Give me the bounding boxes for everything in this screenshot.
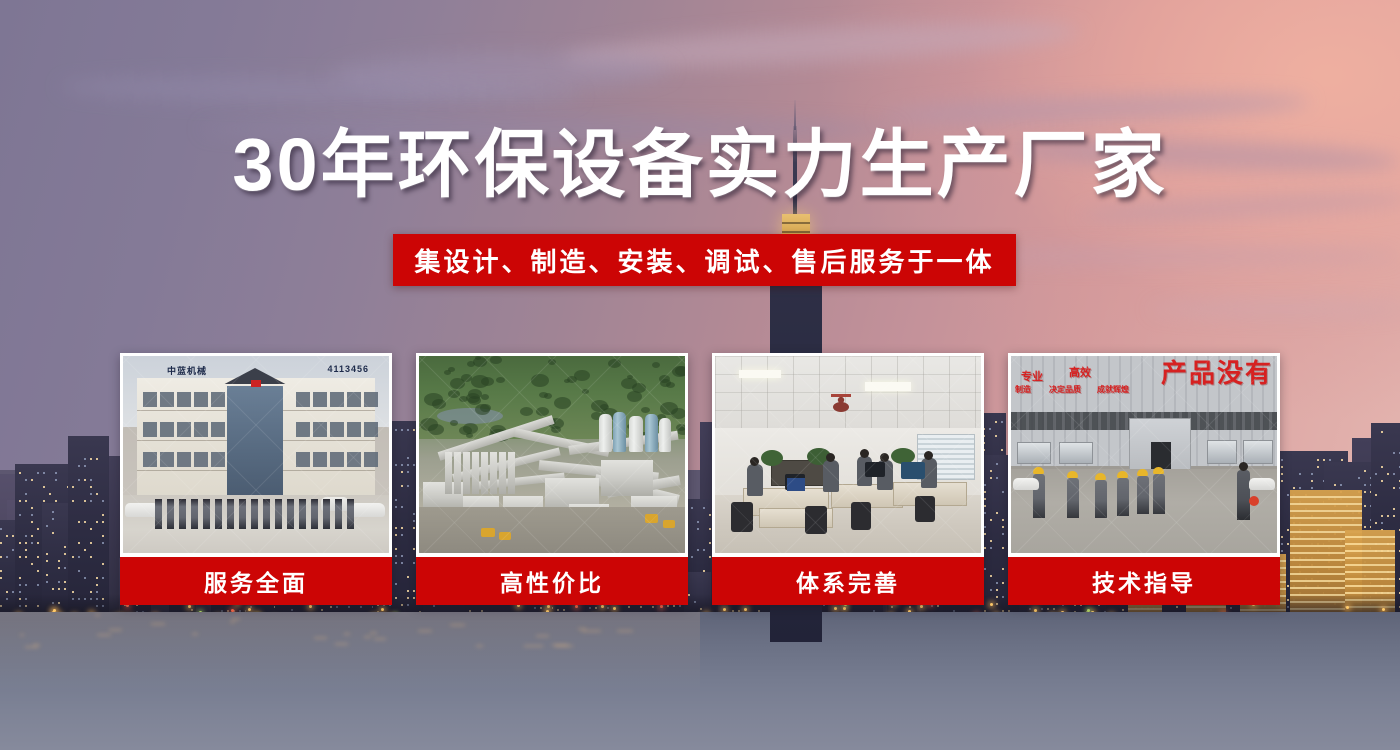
- subtitle-banner: 集设计、制造、安装、调试、售后服务于一体: [393, 234, 1016, 286]
- feature-card[interactable]: 产品没有 专业 高效 制造 决定品质 成就辉煌 技术指导: [1008, 353, 1280, 605]
- water-glow: [0, 612, 700, 692]
- card-caption: 高性价比: [416, 557, 688, 605]
- feature-card[interactable]: 高性价比: [416, 353, 688, 605]
- promo-banner: 30年环保设备实力生产厂家 集设计、制造、安装、调试、售后服务于一体 中蓝机械 …: [0, 0, 1400, 750]
- watermark-pattern: [123, 356, 389, 553]
- cloud: [330, 49, 671, 95]
- feature-card[interactable]: 体系完善: [712, 353, 984, 605]
- cloud: [60, 73, 580, 108]
- card-caption: 服务全面: [120, 557, 392, 605]
- watermark-pattern: [715, 356, 981, 553]
- factory-workshop-photo: 产品没有 专业 高效 制造 决定品质 成就辉煌: [1011, 356, 1277, 553]
- feature-card[interactable]: 中蓝机械 4113456 服务全面: [120, 353, 392, 605]
- aerial-production-plant-photo: [419, 356, 685, 553]
- card-caption: 技术指导: [1008, 557, 1280, 605]
- page-title: 30年环保设备实力生产厂家: [0, 128, 1400, 202]
- feature-card-list: 中蓝机械 4113456 服务全面 高性价比: [120, 353, 1280, 605]
- company-office-building-photo: 中蓝机械 4113456: [123, 356, 389, 553]
- watermark-pattern: [419, 356, 685, 553]
- watermark-pattern: [1011, 356, 1277, 553]
- subtitle-text: 集设计、制造、安装、调试、售后服务于一体: [414, 242, 994, 279]
- office-interior-photo: [715, 356, 981, 553]
- card-caption: 体系完善: [712, 557, 984, 605]
